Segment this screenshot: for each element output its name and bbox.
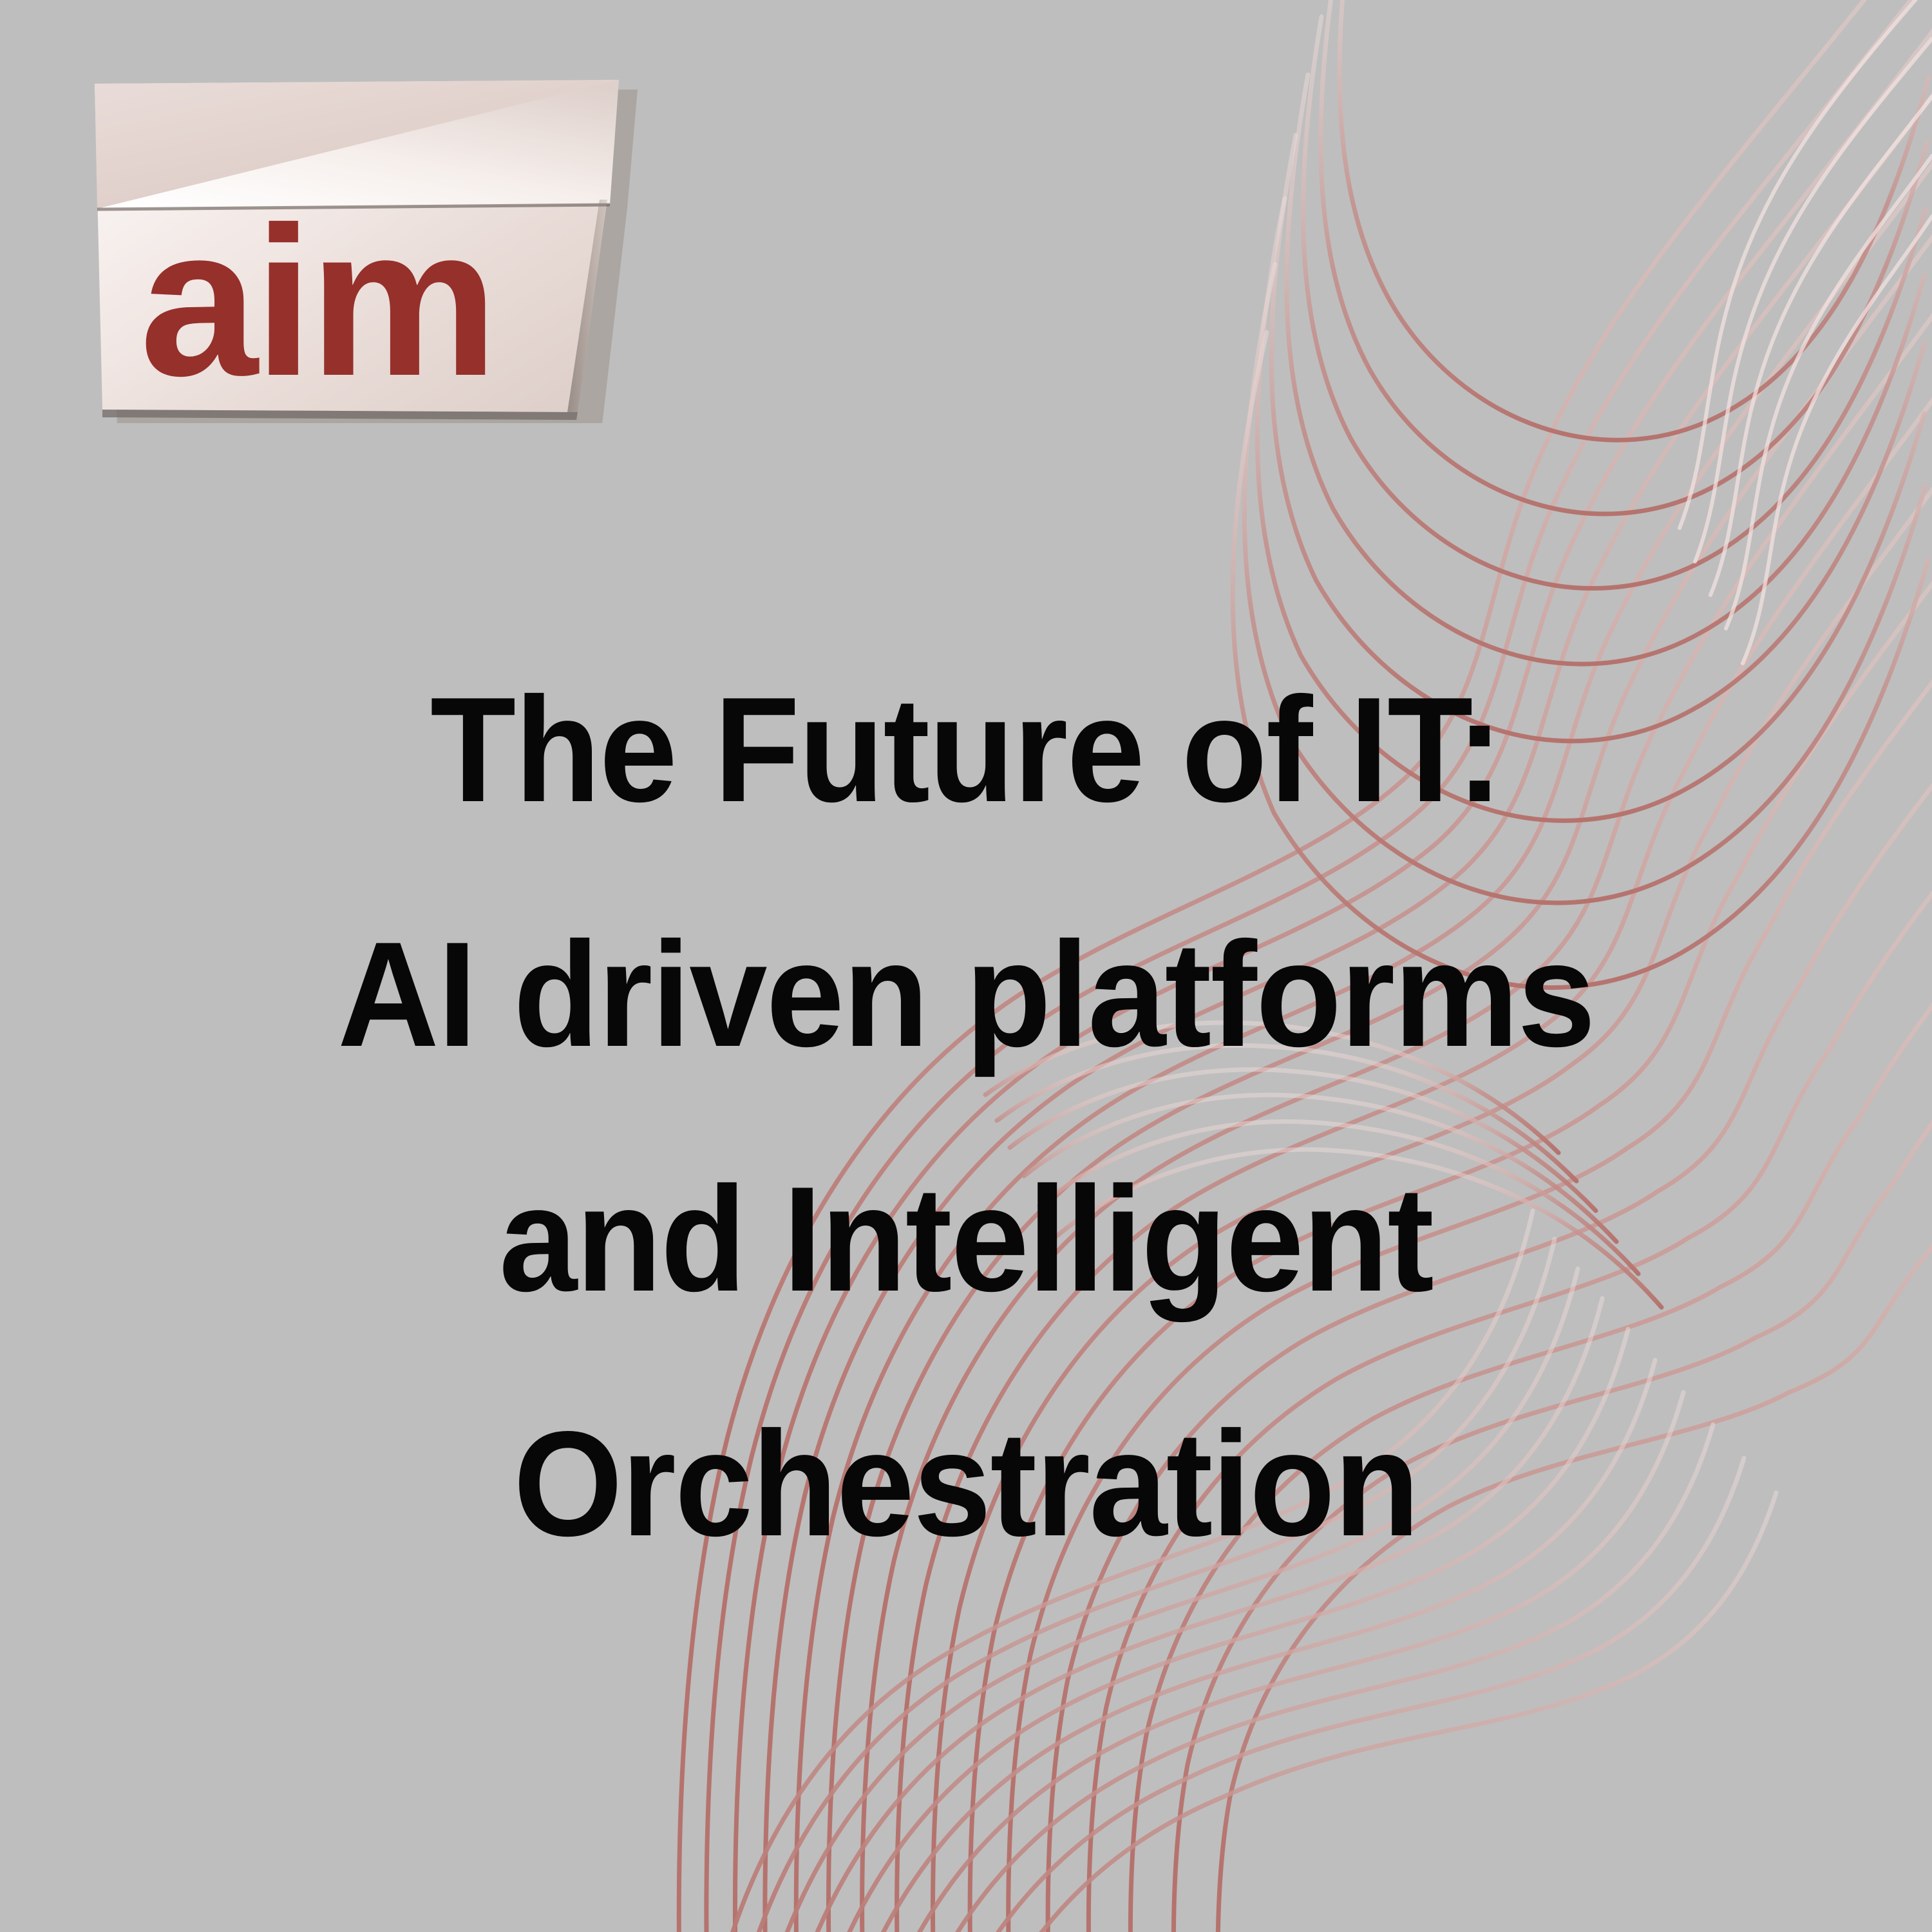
headline-line-1: The Future of IT: [58, 628, 1874, 873]
poster-canvas: aim The Future of IT: AI driven platform… [0, 0, 1932, 1932]
headline-line-2: AI driven platforms [58, 873, 1874, 1117]
aim-logo: aim [80, 72, 673, 423]
headline-line-3: and Intelligent [58, 1117, 1874, 1362]
headline: The Future of IT: AI driven platforms an… [0, 628, 1932, 1607]
logo-wordmark: aim [140, 182, 495, 420]
headline-line-4: Orchestration [58, 1362, 1874, 1607]
